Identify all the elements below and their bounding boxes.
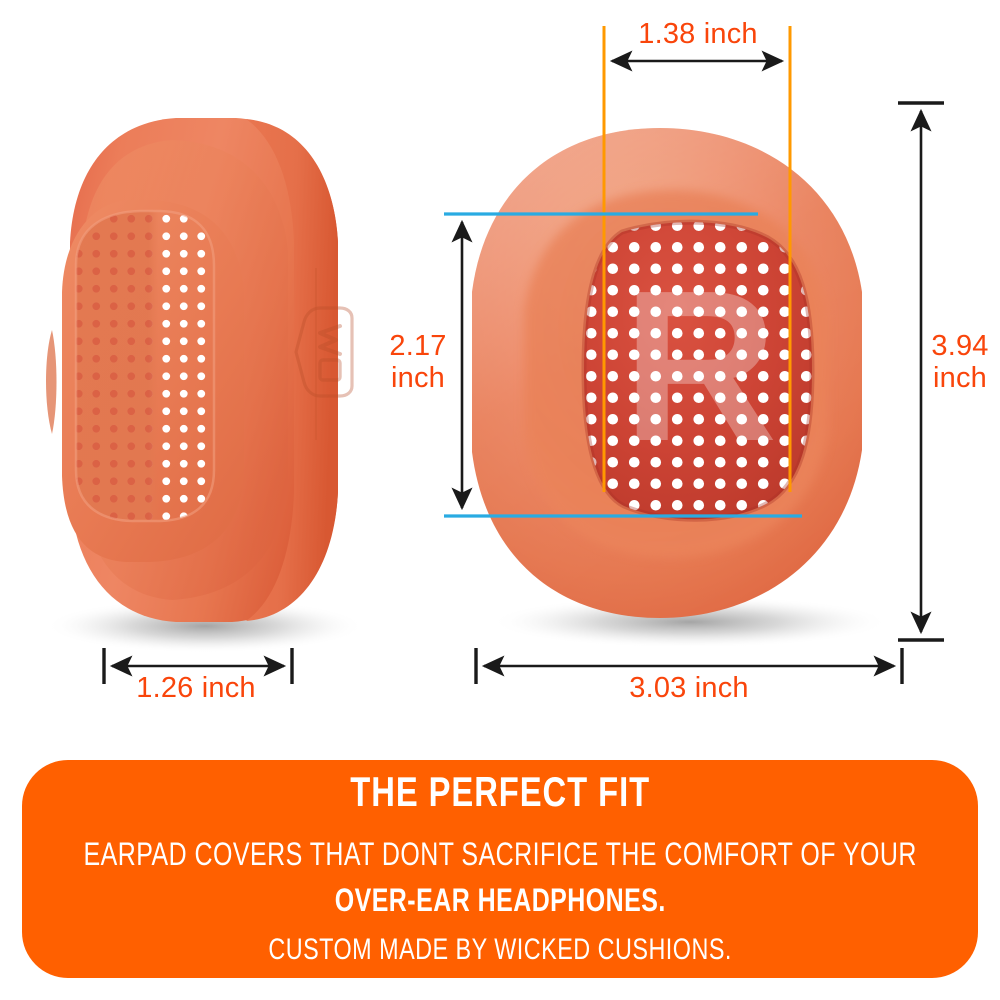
left-earpad xyxy=(46,118,352,622)
banner-title: THE PERFECT FIT xyxy=(350,768,650,816)
banner-subtitle-line-2: OVER-EAR HEADPHONES. xyxy=(334,882,665,919)
dimension-label-outer-width: 3.03 inch xyxy=(480,672,898,704)
marketing-banner: THE PERFECT FIT EARPAD COVERS THAT DONT … xyxy=(22,760,978,978)
right-pad-shadow xyxy=(490,596,890,648)
right-earpad-hollow xyxy=(524,190,828,558)
banner-subtitle-line-3: CUSTOM MADE BY WICKED CUSHIONS. xyxy=(268,933,732,967)
left-earpad-inner-bowl xyxy=(62,200,244,562)
right-earpad-recess-edge xyxy=(584,222,812,519)
right-earpad: R xyxy=(472,128,862,618)
dimension-label-depth: 1.26 inch xyxy=(92,672,300,704)
left-pad-shadow xyxy=(45,599,365,653)
dimension-label-outer-height: 3.94 inch xyxy=(920,330,1000,395)
banner-subtitle-line-1: EARPAD COVERS THAT DONT SACRIFICE THE CO… xyxy=(83,836,916,873)
dimension-label-inner-width: 1.38 inch xyxy=(604,18,792,50)
left-earpad-body xyxy=(70,118,338,622)
left-earpad-depth-face xyxy=(246,119,338,621)
infographic-canvas: R xyxy=(0,0,1000,1000)
right-earpad-gloss xyxy=(472,128,862,618)
right-earpad-recess xyxy=(584,222,812,519)
left-earpad-perforation-mesh xyxy=(60,200,230,540)
left-earpad-notch xyxy=(46,330,57,434)
right-side-marking: R xyxy=(622,245,777,486)
left-earpad-rim xyxy=(82,140,288,600)
right-earpad-perforation-mesh xyxy=(580,215,820,530)
wicked-cushions-logo-icon xyxy=(296,308,352,396)
dimension-label-inner-height: 2.17 inch xyxy=(378,330,458,395)
left-earpad-mesh-outline xyxy=(76,211,214,521)
right-earpad-body xyxy=(472,128,862,618)
